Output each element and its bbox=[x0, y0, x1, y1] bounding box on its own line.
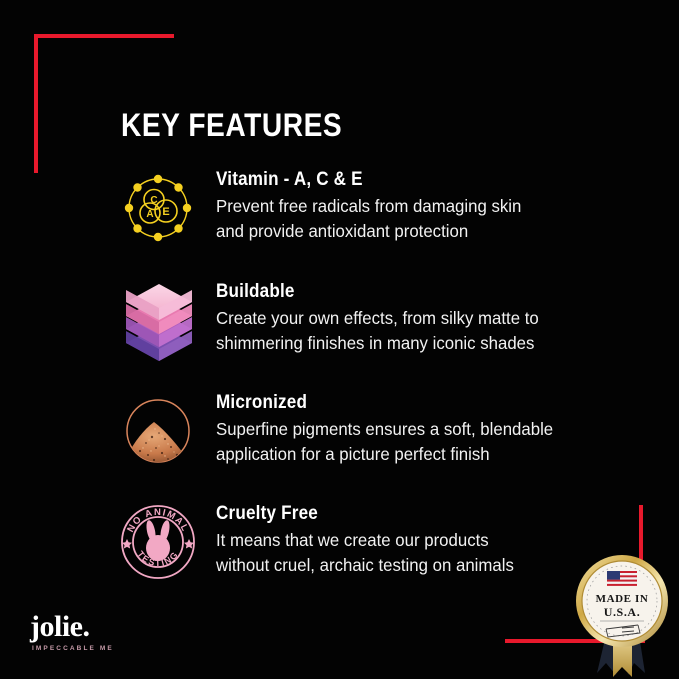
feature-row-micronized: Micronized Superfine pigments ensures a … bbox=[118, 391, 638, 471]
feature-text-micronized: Micronized Superfine pigments ensures a … bbox=[216, 391, 567, 467]
brand-tagline: IMPECCABLE ME bbox=[32, 645, 114, 652]
feature-line: and provide antioxidant protection bbox=[216, 219, 521, 244]
feature-heading: Vitamin - A, C & E bbox=[216, 169, 502, 191]
pigment-powder-icon bbox=[118, 391, 198, 471]
feature-heading: Micronized bbox=[216, 392, 532, 414]
feature-line: It means that we create our products bbox=[216, 528, 514, 553]
stacked-cube-icon bbox=[118, 280, 198, 360]
svg-text:U.S.A.: U.S.A. bbox=[604, 605, 641, 619]
feature-heading: Buildable bbox=[216, 281, 519, 303]
svg-text:A: A bbox=[146, 209, 153, 220]
feature-line: application for a picture perfect finish bbox=[216, 442, 553, 467]
cruelty-free-bunny-icon: NO ANIMAL TESTING bbox=[118, 502, 198, 582]
poster-canvas: KEY FEATURES C A E Vitamin bbox=[0, 0, 679, 679]
feature-line: shimmering finishes in many iconic shade… bbox=[216, 331, 539, 356]
page-title: KEY FEATURES bbox=[121, 107, 342, 144]
brand-logo: jolie. IMPECCABLE ME bbox=[30, 612, 114, 652]
feature-text-cruelty-free: Cruelty Free It means that we create our… bbox=[216, 502, 526, 578]
corner-bracket-top-left-horizontal bbox=[34, 34, 174, 38]
vitamin-molecule-icon: C A E bbox=[118, 168, 198, 248]
feature-heading: Cruelty Free bbox=[216, 503, 495, 525]
feature-row-buildable: Buildable Create your own effects, from … bbox=[118, 280, 638, 360]
feature-row-cruelty-free: NO ANIMAL TESTING Cruelty Free It means … bbox=[118, 502, 638, 582]
feature-line: without cruel, archaic testing on animal… bbox=[216, 553, 514, 578]
made-in-usa-seal: MADE IN U.S.A. bbox=[566, 551, 679, 679]
feature-row-vitamin: C A E Vitamin - A, C & E Prevent free ra… bbox=[118, 168, 638, 248]
brand-wordmark: jolie. bbox=[30, 612, 114, 642]
feature-line: Create your own effects, from silky matt… bbox=[216, 306, 539, 331]
feature-text-buildable: Buildable Create your own effects, from … bbox=[216, 280, 552, 356]
svg-text:E: E bbox=[162, 206, 169, 218]
feature-text-vitamin: Vitamin - A, C & E Prevent free radicals… bbox=[216, 168, 534, 244]
svg-text:NO ANIMAL: NO ANIMAL bbox=[125, 507, 191, 534]
svg-text:MADE IN: MADE IN bbox=[596, 593, 649, 605]
feature-line: Superfine pigments ensures a soft, blend… bbox=[216, 417, 553, 442]
corner-bracket-top-left-vertical bbox=[34, 34, 38, 173]
feature-line: Prevent free radicals from damaging skin bbox=[216, 194, 521, 219]
svg-text:C: C bbox=[150, 195, 157, 206]
